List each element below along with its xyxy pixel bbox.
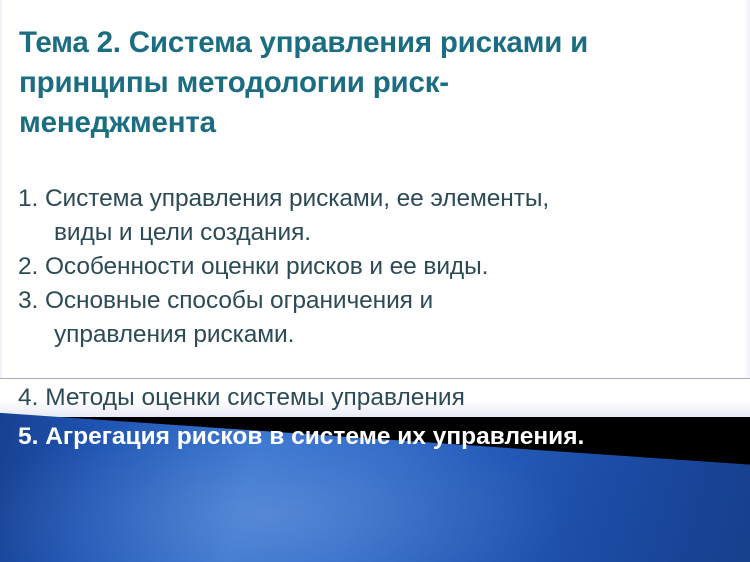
list-item-1-continuation: виды и цели создания. — [18, 216, 718, 250]
page-edge-left — [0, 0, 3, 420]
list-item-3-continuation: управления рисками. — [18, 318, 718, 352]
list-item-3: 3. Основные способы ограничения и управл… — [18, 284, 718, 352]
list-item-4: 4. Методы оценки системы управления — [18, 381, 465, 415]
presentation-slide: Тема 2. Система управления рисками и при… — [0, 0, 750, 562]
list-item-3-text: Основные способы ограничения и — [45, 287, 433, 314]
slide-title: Тема 2. Система управления рисками и при… — [19, 23, 709, 143]
page-edge-right — [744, 0, 750, 420]
horizontal-divider — [0, 378, 750, 379]
slide-title-line-2: принципы методологии риск- — [19, 63, 709, 103]
slide-title-line-3: менеджмента — [19, 103, 709, 143]
list-item-2-text: Особенности оценки рисков и ее виды. — [45, 253, 488, 280]
slide-title-line-1: Тема 2. Система управления рисками и — [19, 23, 709, 63]
list-item-5: 5. Агрегация рисков в системе их управле… — [18, 421, 584, 453]
list-item-3-number: 3. — [18, 287, 38, 314]
list-item-2: 2. Особенности оценки рисков и ее виды. — [18, 250, 718, 284]
list-item-2-number: 2. — [18, 253, 38, 280]
list-item-1: 1. Система управления рисками, ее элемен… — [18, 182, 718, 250]
list-item-1-number: 1. — [18, 185, 38, 212]
list-item-1-text: Система управления рисками, ее элементы, — [45, 185, 549, 212]
agenda-list: 1. Система управления рисками, ее элемен… — [18, 182, 718, 352]
